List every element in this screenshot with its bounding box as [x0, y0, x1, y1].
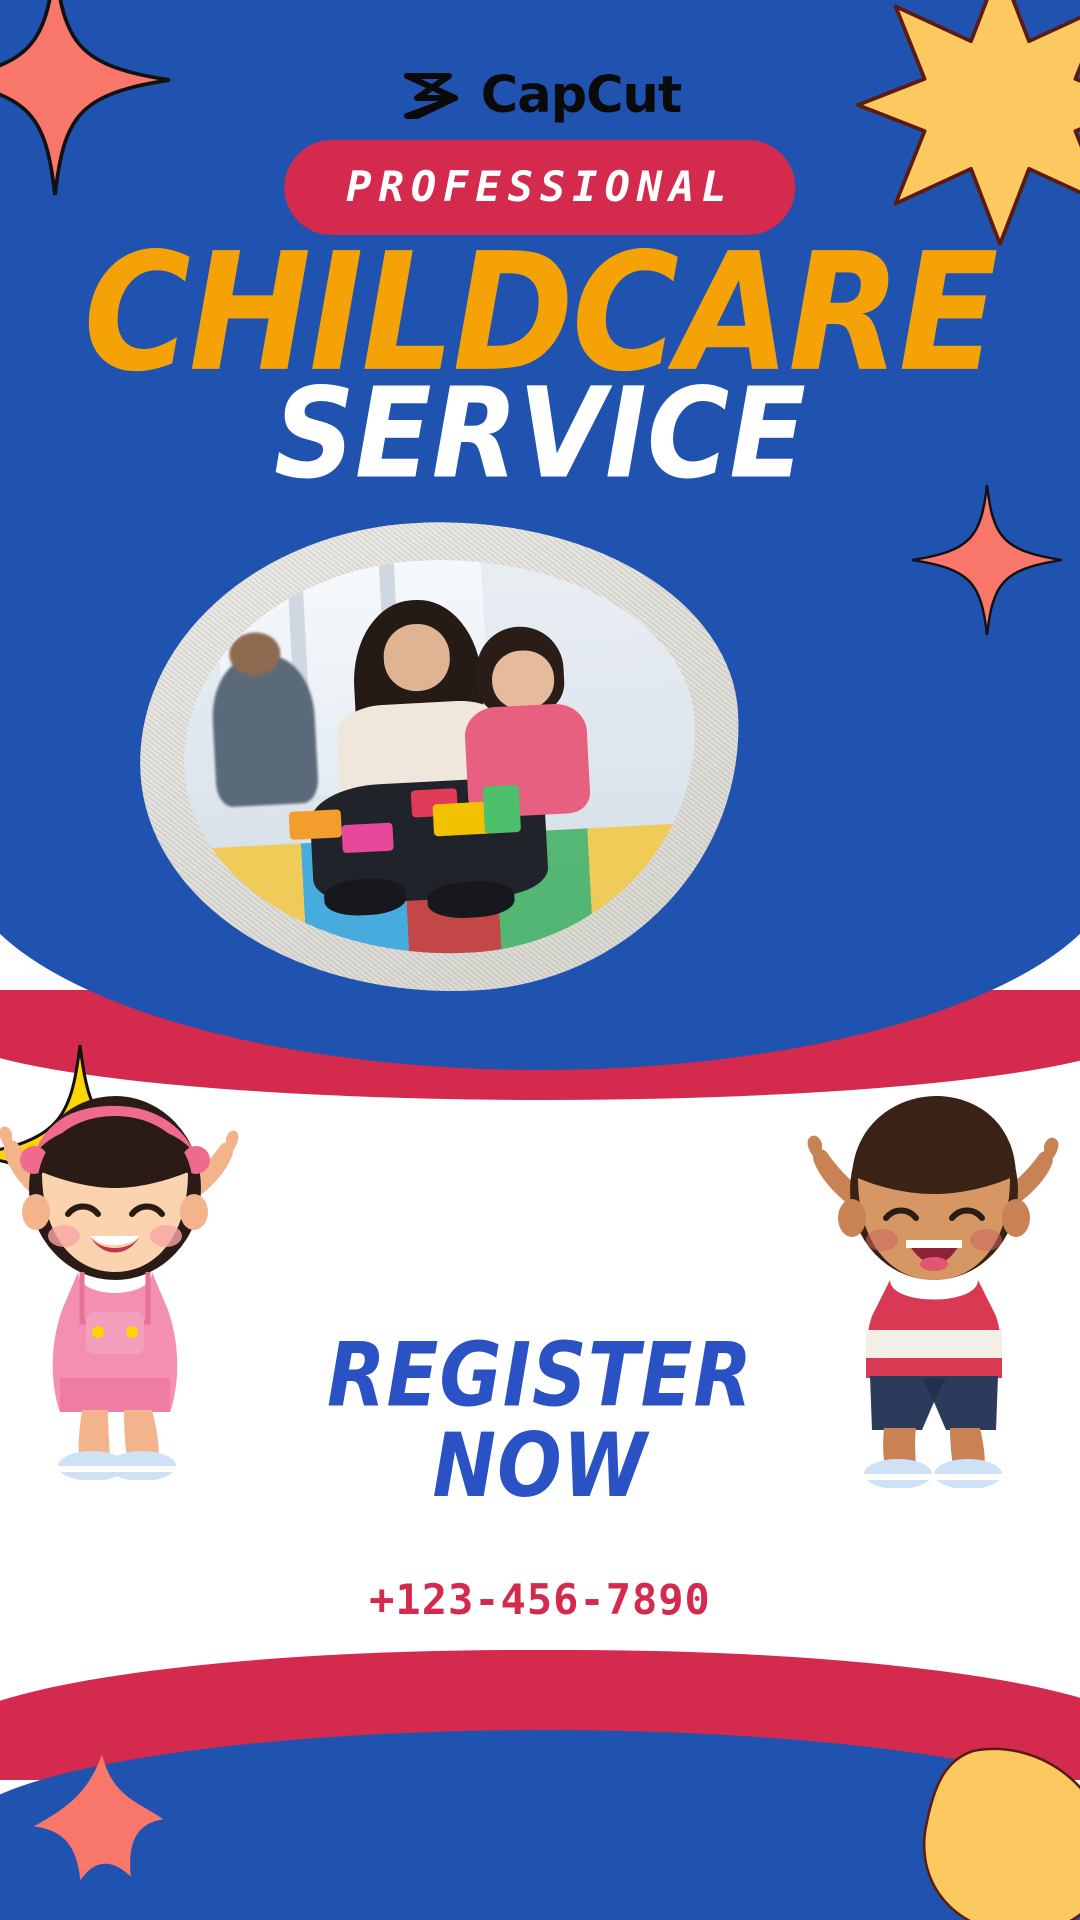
- contact-website[interactable]: www.capcut.com: [0, 1646, 1080, 1692]
- poster-canvas: CapCut PROFESSIONAL CHILDCARE SERVICE: [0, 0, 1080, 1920]
- contact-phone[interactable]: +123-456-7890: [369, 1575, 711, 1624]
- page-title-service: SERVICE: [0, 372, 1080, 497]
- brand-logo: CapCut: [0, 66, 1080, 125]
- hero-photo: [140, 522, 740, 992]
- register-line-1: REGISTER: [327, 1323, 753, 1426]
- gold-starburst-top-right-icon: [850, 0, 1080, 250]
- jumping-girl-illustration: [0, 1060, 282, 1480]
- gold-shape-bottom-right-icon: [910, 1730, 1080, 1920]
- jumping-boy-illustration: [790, 1058, 1080, 1488]
- capcut-logo-icon: [399, 68, 465, 124]
- contact-info: +123-456-7890 www.capcut.com: [0, 1575, 1080, 1692]
- brand-logo-text: CapCut: [481, 66, 681, 125]
- photo-image: [174, 547, 706, 967]
- coral-leaf-bottom-left-icon: [12, 1740, 192, 1920]
